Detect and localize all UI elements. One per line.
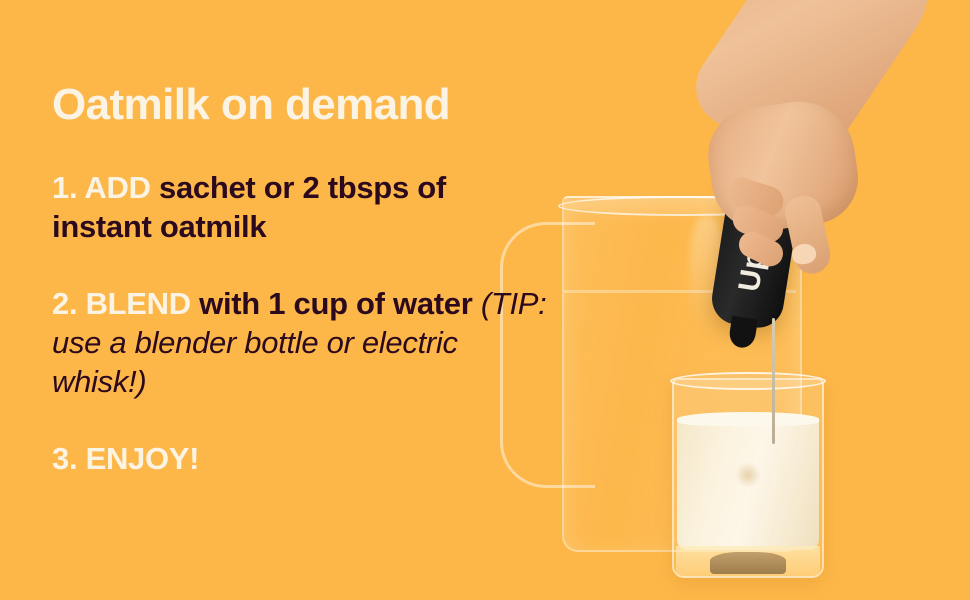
oatmilk-foam [677, 412, 819, 426]
step-1: 1. ADD sachet or 2 tbsps of instant oatm… [52, 168, 552, 246]
product-photo: Upright [540, 0, 970, 600]
step-2: 2. BLEND with 1 cup of water (TIP: use a… [52, 284, 552, 401]
whisk-shaft [772, 318, 775, 444]
promo-banner: Upright Oatmilk on demand 1. ADD sachet … [0, 0, 970, 600]
page-title: Oatmilk on demand [52, 82, 552, 128]
step-3: 3. ENJOY! [52, 439, 552, 478]
step-2-body: with 1 cup of water [191, 286, 481, 321]
glass-rim [670, 372, 826, 390]
step-1-lead: 1. ADD [52, 170, 151, 205]
glass-base [676, 546, 820, 576]
step-3-lead: 3. ENJOY! [52, 441, 199, 476]
copy-column: Oatmilk on demand 1. ADD sachet or 2 tbs… [52, 82, 552, 478]
oatmilk-liquid [677, 416, 819, 550]
oatmilk-glass [672, 378, 824, 578]
step-2-lead: 2. BLEND [52, 286, 191, 321]
